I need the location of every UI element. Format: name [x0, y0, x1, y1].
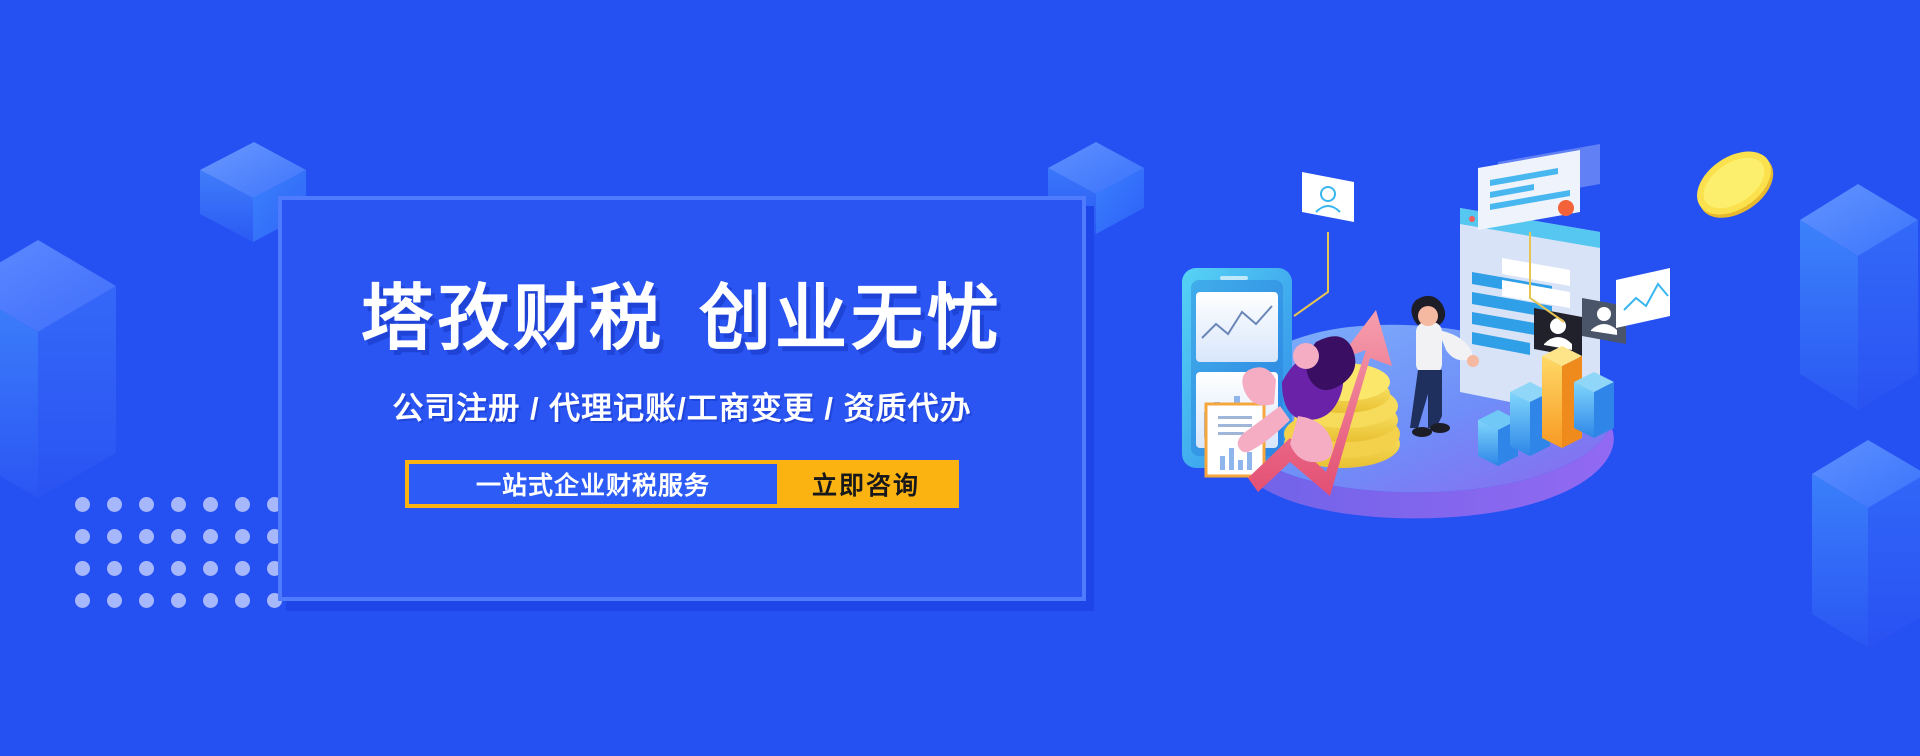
service-tag-label: 一站式企业财税服务: [409, 464, 777, 504]
prism-right-bottom-icon: [1812, 418, 1920, 648]
headline-part2: 创业无忧: [699, 279, 1003, 359]
services-subline: 公司注册 / 代理记账/工商变更 / 资质代办: [392, 383, 971, 428]
promo-banner: 塔孜财税创业无忧 公司注册 / 代理记账/工商变更 / 资质代办 一站式企业财税…: [0, 0, 1920, 756]
prism-left-icon: [0, 178, 180, 498]
headline-part1: 塔孜财税: [361, 279, 665, 359]
prism-right-top-icon: [1800, 150, 1920, 410]
cta-row: 一站式企业财税服务 立即咨询: [405, 460, 959, 508]
headline: 塔孜财税创业无忧: [361, 283, 1003, 355]
gold-coin-top-right-icon: [1686, 140, 1782, 226]
line-chart-card: [1616, 268, 1670, 328]
consult-now-button[interactable]: 立即咨询: [777, 464, 955, 504]
profile-card: [1294, 172, 1354, 316]
content-frame: 塔孜财税创业无忧 公司注册 / 代理记账/工商变更 / 资质代办 一站式企业财税…: [278, 196, 1086, 601]
isometric-business-illustration: [1130, 120, 1670, 540]
